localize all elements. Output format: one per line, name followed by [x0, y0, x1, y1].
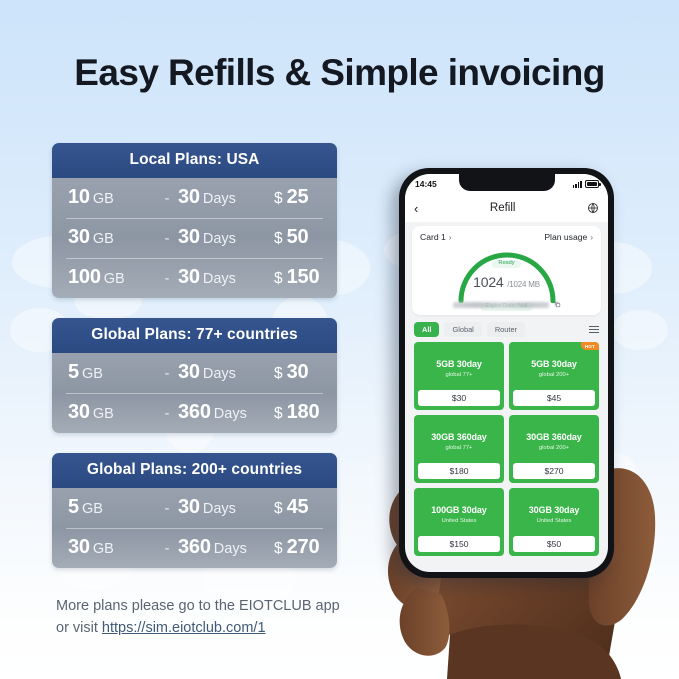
table-row: 100GB - 30Days $150	[52, 258, 337, 298]
row-currency: $	[274, 365, 283, 382]
row-data-unit: GB	[104, 271, 125, 287]
row-price: 25	[287, 186, 309, 208]
plan-card-price: $30	[418, 390, 500, 406]
table-row: 30GB - 360Days $180	[52, 393, 337, 433]
plan-card-title: 5GB 30day	[436, 359, 482, 369]
eiotclub-link[interactable]: https://sim.eiotclub.com/1	[102, 620, 266, 636]
status-badge: Ready	[492, 260, 520, 268]
row-currency: $	[274, 500, 283, 517]
plan-card[interactable]: 30GB 360day global 200+ $270	[509, 415, 599, 483]
plan-usage-link[interactable]: Plan usage›	[544, 232, 593, 242]
table-row: 5GB - 30Days $45	[52, 488, 337, 528]
row-days-value: 30	[178, 266, 200, 288]
row-data-value: 30	[68, 401, 90, 423]
plan-table-body: 10GB - 30Days $25 30GB - 30Days $50 100G…	[52, 178, 337, 298]
hamburger-menu-icon[interactable]	[589, 326, 599, 333]
plan-card-region: United States	[442, 518, 477, 524]
table-row: 30GB - 30Days $50	[52, 218, 337, 258]
row-currency: $	[274, 540, 283, 557]
row-dash: -	[156, 365, 178, 382]
app-navbar: ‹ Refill	[405, 194, 608, 222]
row-data-value: 10	[68, 186, 90, 208]
row-data-value: 5	[68, 361, 79, 383]
plan-card-price: $180	[418, 463, 500, 479]
row-currency: $	[274, 270, 283, 287]
plan-table-body: 5GB - 30Days $45 30GB - 360Days $270	[52, 488, 337, 568]
plan-card[interactable]: 30GB 30day United States $50	[509, 488, 599, 556]
tab-global[interactable]: Global	[444, 322, 481, 337]
row-days-value: 30	[178, 496, 200, 518]
status-time: 14:45	[415, 179, 437, 189]
row-data-value: 30	[68, 536, 90, 558]
tab-router[interactable]: Router	[487, 322, 525, 337]
row-price: 270	[287, 536, 320, 558]
phone-screen: 14:45 ‹ Refill Card 1› Plan usage›	[405, 174, 608, 572]
row-data-unit: GB	[82, 501, 103, 517]
page-title: Easy Refills & Simple invoicing	[0, 52, 679, 94]
plan-card[interactable]: 30GB 360day global 77+ $180	[414, 415, 504, 483]
row-currency: $	[274, 405, 283, 422]
signal-bars-icon	[573, 181, 582, 188]
plan-card-price: $270	[513, 463, 595, 479]
row-days-unit: Days	[203, 366, 236, 382]
row-days-value: 30	[178, 361, 200, 383]
data-used-value: 1024	[473, 274, 503, 290]
plan-usage-label: Plan usage	[544, 232, 587, 242]
plan-card-price: $50	[513, 536, 595, 552]
plan-card-body: 30GB 360day global 77+	[414, 415, 504, 463]
row-data-unit: GB	[93, 231, 114, 247]
plan-table-header: Global Plans: 200+ countries	[52, 453, 337, 488]
phone-notch	[459, 174, 555, 191]
card-selector[interactable]: Card 1›	[420, 232, 451, 242]
chevron-left-icon[interactable]: ‹	[414, 202, 418, 215]
data-remaining: 1024 /1024 MB	[420, 274, 593, 290]
hot-badge: HOT	[581, 342, 599, 350]
plan-card-title: 5GB 30day	[531, 359, 577, 369]
row-data-unit: GB	[93, 541, 114, 557]
row-currency: $	[274, 230, 283, 247]
tab-all[interactable]: All	[414, 322, 439, 337]
plan-card-body: 30GB 360day global 200+	[509, 415, 599, 463]
plan-card-body: 5GB 30day global 77+	[414, 342, 504, 390]
plan-card-body: 100GB 30day United States	[414, 488, 504, 536]
table-row: 10GB - 30Days $25	[52, 178, 337, 218]
row-days-unit: Days	[203, 501, 236, 517]
plan-card-region: United States	[537, 518, 572, 524]
row-dash: -	[156, 230, 178, 247]
plan-table-header: Global Plans: 77+ countries	[52, 318, 337, 353]
app-title: Refill	[490, 202, 516, 214]
sim-card-panel: Card 1› Plan usage› Ready 1024 /1024 MB …	[412, 226, 601, 315]
row-dash: -	[156, 500, 178, 517]
data-usage-gauge: Ready 1024 /1024 MB Expire Date: Null	[420, 243, 593, 299]
table-row: 30GB - 360Days $270	[52, 528, 337, 568]
row-days-unit: Days	[203, 231, 236, 247]
plan-card[interactable]: 5GB 30day global 77+ $30	[414, 342, 504, 410]
row-data-value: 30	[68, 226, 90, 248]
table-row: 5GB - 30Days $30	[52, 353, 337, 393]
row-data-unit: GB	[93, 191, 114, 207]
row-days-value: 360	[178, 401, 211, 423]
row-price: 50	[287, 226, 309, 248]
plan-tables: Local Plans: USA 10GB - 30Days $25 30GB …	[52, 143, 337, 588]
row-data-unit: GB	[82, 366, 103, 382]
row-currency: $	[274, 190, 283, 207]
row-data-value: 100	[68, 266, 101, 288]
row-days-unit: Days	[203, 271, 236, 287]
globe-icon[interactable]	[587, 202, 599, 214]
row-days-unit: Days	[203, 191, 236, 207]
row-data-value: 5	[68, 496, 79, 518]
plan-card-region: global 77+	[446, 445, 473, 451]
chevron-right-icon: ›	[590, 233, 593, 242]
phone-mockup: 14:45 ‹ Refill Card 1› Plan usage›	[399, 168, 614, 578]
plan-card[interactable]: 100GB 30day United States $150	[414, 488, 504, 556]
plan-card-title: 100GB 30day	[431, 505, 486, 515]
plan-card[interactable]: HOT 5GB 30day global 200+ $45	[509, 342, 599, 410]
row-days-value: 360	[178, 536, 211, 558]
plan-card-title: 30GB 360day	[526, 432, 581, 442]
battery-icon	[585, 180, 599, 188]
chevron-right-icon: ›	[449, 233, 452, 242]
row-dash: -	[156, 270, 178, 287]
row-days-value: 30	[178, 186, 200, 208]
footer-line-2: or visit https://sim.eiotclub.com/1	[56, 617, 376, 639]
plan-cards-grid: 5GB 30day global 77+ $30 HOT 5GB 30day g…	[405, 342, 608, 562]
plan-table-global-77: Global Plans: 77+ countries 5GB - 30Days…	[52, 318, 337, 433]
row-dash: -	[156, 405, 178, 422]
row-price: 45	[287, 496, 309, 518]
filter-tabs: All Global Router	[405, 315, 608, 342]
row-price: 30	[287, 361, 309, 383]
row-price: 150	[287, 266, 320, 288]
row-data-unit: GB	[93, 406, 114, 422]
plan-table-local-usa: Local Plans: USA 10GB - 30Days $25 30GB …	[52, 143, 337, 298]
plan-card-region: global 77+	[446, 372, 473, 378]
plan-card-region: global 200+	[539, 445, 569, 451]
plan-table-header: Local Plans: USA	[52, 143, 337, 178]
row-days-unit: Days	[214, 406, 247, 422]
plan-card-price: $45	[513, 390, 595, 406]
footer-line-1: More plans please go to the EIOTCLUB app	[56, 595, 376, 617]
card-panel-header: Card 1› Plan usage›	[420, 232, 593, 242]
row-days-unit: Days	[214, 541, 247, 557]
plan-card-title: 30GB 360day	[431, 432, 486, 442]
plan-card-title: 30GB 30day	[529, 505, 580, 515]
plan-table-global-200: Global Plans: 200+ countries 5GB - 30Day…	[52, 453, 337, 568]
plan-table-body: 5GB - 30Days $30 30GB - 360Days $180	[52, 353, 337, 433]
row-dash: -	[156, 190, 178, 207]
data-total-value: /1024 MB	[507, 280, 540, 289]
row-dash: -	[156, 540, 178, 557]
footer-prefix: or visit	[56, 620, 102, 636]
footer-note: More plans please go to the EIOTCLUB app…	[56, 595, 376, 640]
plan-card-price: $150	[418, 536, 500, 552]
status-icons	[573, 180, 599, 188]
iccid-redacted	[453, 302, 549, 308]
card-label: Card 1	[420, 232, 446, 242]
row-price: 180	[287, 401, 320, 423]
row-days-value: 30	[178, 226, 200, 248]
plan-card-region: global 200+	[539, 372, 569, 378]
plan-card-body: 30GB 30day United States	[509, 488, 599, 536]
